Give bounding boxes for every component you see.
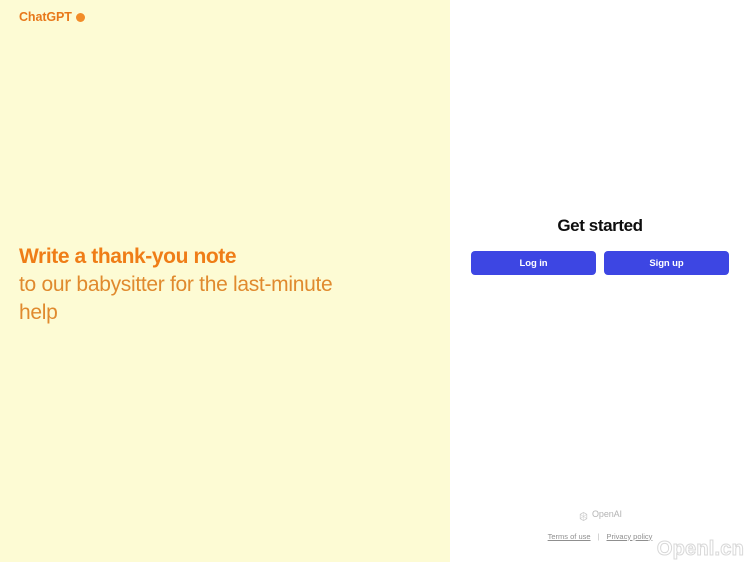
chatgpt-brand-label: ChatGPT [19,11,72,24]
auth-button-group: Log in Sign up [471,251,729,275]
openai-brand: OpenAI [578,509,622,520]
watermark: Openl.cn [657,539,744,559]
login-page: ChatGPT Write a thank-you note to our ba… [0,0,750,562]
privacy-policy-link[interactable]: Privacy policy [607,533,653,541]
footer-links: Terms of use | Privacy policy [548,533,653,541]
openai-logo-icon [578,509,589,520]
footer-separator: | [598,533,600,541]
page-title: Get started [557,215,642,237]
chatgpt-brand[interactable]: ChatGPT [19,11,85,24]
get-started-block: Get started Log in Sign up [450,215,750,275]
promo-text: Write a thank-you note to our babysitter… [19,243,419,327]
promo-panel: ChatGPT Write a thank-you note to our ba… [0,0,450,562]
openai-brand-label: OpenAI [592,510,622,519]
promo-line-3: help [19,299,419,327]
terms-of-use-link[interactable]: Terms of use [548,533,591,541]
orange-dot-icon [76,13,85,22]
auth-panel: Get started Log in Sign up OpenAI Terms … [450,0,750,562]
login-button[interactable]: Log in [471,251,596,275]
promo-line-1: Write a thank-you note [19,243,419,271]
signup-button[interactable]: Sign up [604,251,729,275]
footer: OpenAI Terms of use | Privacy policy [450,509,750,541]
promo-line-2: to our babysitter for the last-minute [19,271,419,299]
